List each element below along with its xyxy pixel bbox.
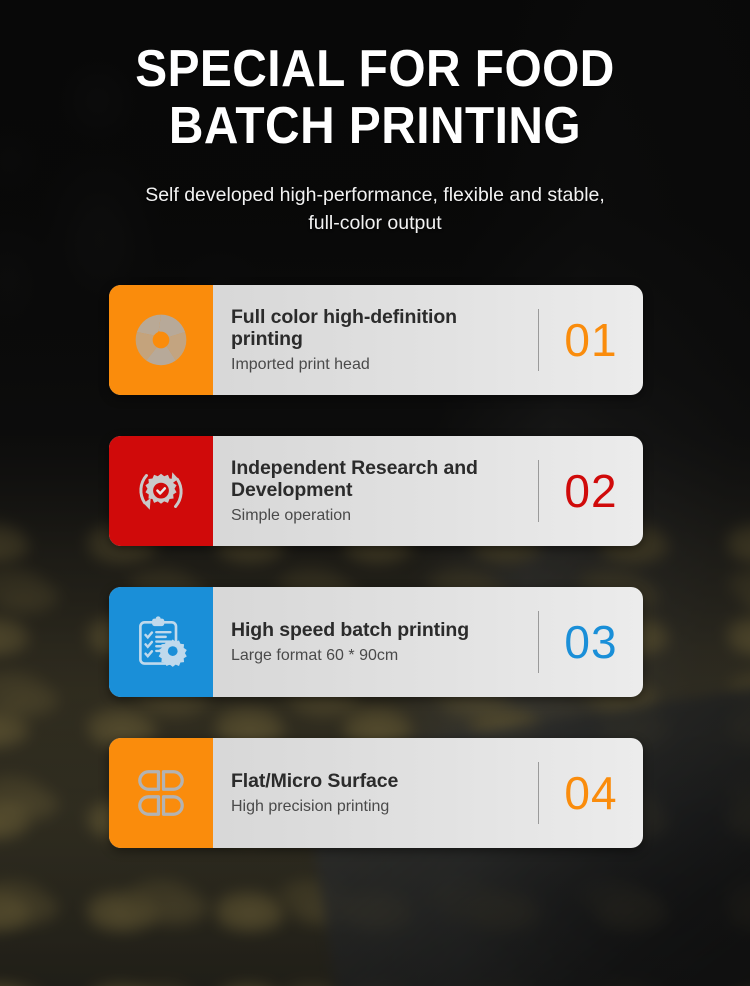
clipboard-checklist-gear-icon [131,612,191,672]
aperture-shutter-icon [132,311,190,369]
feature-icon-block [109,436,213,546]
subheadline: Self developed high-performance, flexibl… [140,182,610,237]
promo-banner: SPECIAL FOR FOOD BATCH PRINTING Self dev… [0,0,750,986]
feature-text: Full color high-definition printing Impo… [231,306,538,375]
feature-title: Full color high-definition printing [231,306,526,350]
feature-title: High speed batch printing [231,619,526,641]
headline-line-2: BATCH PRINTING [85,101,665,152]
feature-subtitle: Simple operation [231,506,526,525]
feature-card-list: Full color high-definition printing Impo… [109,285,643,848]
feature-subtitle: Large format 60 * 90cm [231,646,526,665]
feature-subtitle: Imported print head [231,355,526,374]
headline-line-1: SPECIAL FOR FOOD [85,44,665,95]
feature-body: High speed batch printing Large format 6… [213,587,643,697]
feature-card[interactable]: Full color high-definition printing Impo… [109,285,643,395]
feature-title: Independent Research and Development [231,457,526,501]
feature-number: 03 [539,619,643,665]
feature-icon-block [109,738,213,848]
feature-body: Independent Research and Development Sim… [213,436,643,546]
gear-refresh-icon [131,461,191,521]
feature-card[interactable]: High speed batch printing Large format 6… [109,587,643,697]
headline: SPECIAL FOR FOOD BATCH PRINTING [0,44,750,152]
feature-text: Flat/Micro Surface High precision printi… [231,770,538,816]
feature-body: Full color high-definition printing Impo… [213,285,643,395]
feature-number: 04 [539,770,643,816]
feature-icon-block [109,285,213,395]
feature-text: High speed batch printing Large format 6… [231,619,538,665]
feature-subtitle: High precision printing [231,797,526,816]
feature-text: Independent Research and Development Sim… [231,457,538,526]
feature-body: Flat/Micro Surface High precision printi… [213,738,643,848]
feature-card[interactable]: Independent Research and Development Sim… [109,436,643,546]
feature-title: Flat/Micro Surface [231,770,526,792]
feature-number: 01 [539,317,643,363]
feature-number: 02 [539,468,643,514]
feature-icon-block [109,587,213,697]
four-petal-clover-icon [132,764,190,822]
feature-card[interactable]: Flat/Micro Surface High precision printi… [109,738,643,848]
